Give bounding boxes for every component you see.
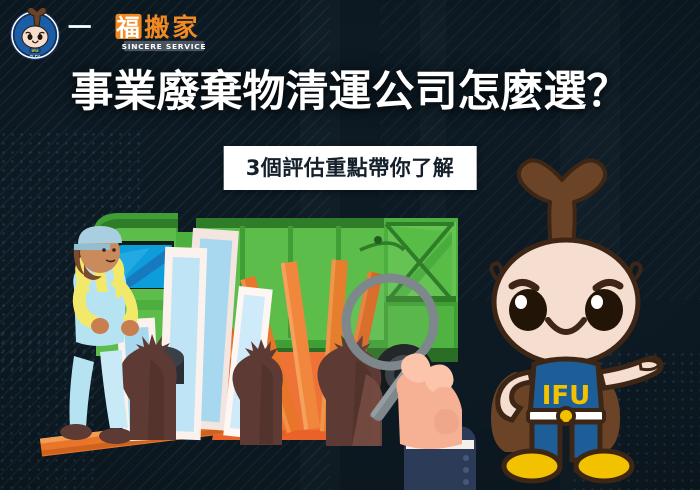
brand-tagline: SINCERE SERVICE bbox=[122, 42, 206, 51]
roundel-badge-subtext: YI FU bbox=[29, 54, 41, 58]
brand-char-4: 家 bbox=[172, 13, 198, 42]
subtitle-badge: 3個評估重點帶你了解 bbox=[224, 146, 477, 190]
brand-char-3: 搬 bbox=[144, 13, 169, 42]
brand-wordmark: 一 福 搬 家 SINCERE SERVICE bbox=[66, 12, 206, 58]
brand-char-2: 福 bbox=[115, 14, 139, 41]
brand-logo[interactable]: IFU YI FU 一 福 搬 家 SINCERE SERVICE bbox=[8, 6, 208, 64]
page-title: 事業廢棄物清運公司怎麼選？ bbox=[0, 68, 700, 117]
banner-root: IFU bbox=[0, 0, 700, 490]
brand-char-1: 一 bbox=[68, 14, 91, 41]
ifu-mascot-roundel-icon: IFU YI FU bbox=[8, 8, 62, 62]
roundel-badge-text: IFU bbox=[32, 49, 38, 53]
brand-wordmark-svg: 一 福 搬 家 SINCERE SERVICE bbox=[66, 12, 206, 53]
